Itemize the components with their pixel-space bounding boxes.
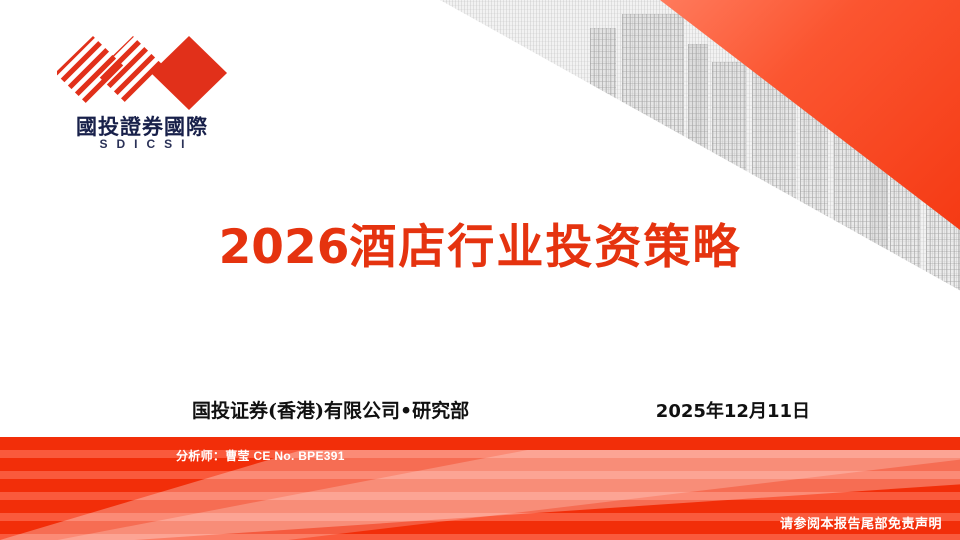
- analyst-credit: 分析师：曹莹 CE No. BPE391: [176, 447, 345, 464]
- company-logo: 國投證券國際 SDICSI: [42, 34, 242, 151]
- logo-subtext: SDICSI: [42, 137, 242, 151]
- building-shape: [590, 28, 616, 328]
- building-shape: [622, 14, 684, 330]
- cityscape-image: [440, 0, 960, 330]
- red-corner-wedge: [660, 0, 960, 230]
- company-name: 国投证券(香港)有限公司•研究部: [192, 396, 469, 423]
- cityscape-background: [440, 0, 960, 330]
- building-shape: [712, 62, 746, 330]
- building-shape: [926, 70, 960, 330]
- title-year: 2026: [219, 220, 350, 275]
- publication-date: 2025年12月11日: [656, 397, 810, 423]
- slide-title: 2026酒店行业投资策略: [0, 208, 960, 277]
- cityscape-texture: [440, 0, 960, 330]
- disclaimer-note: 请参阅本报告尾部免责声明: [780, 513, 942, 532]
- building-shape: [834, 54, 884, 330]
- logo-wordmark: 國投證券國際: [42, 116, 242, 139]
- analyst-ce-number: CE No. BPE391: [253, 449, 344, 463]
- analyst-label: 分析师：: [176, 449, 225, 463]
- byline-row: 国投证券(香港)有限公司•研究部 2025年12月11日: [192, 396, 810, 423]
- building-shape: [752, 40, 796, 330]
- title-subject: 酒店行业投资策略: [349, 220, 741, 275]
- logo-diamond-icon: [57, 34, 227, 112]
- analyst-name: 曹莹: [225, 449, 250, 463]
- header-artwork: [440, 0, 960, 330]
- footer-top-edge: [0, 437, 960, 450]
- building-shape: [800, 78, 828, 330]
- building-shape: [688, 44, 708, 330]
- presentation-slide: 國投證券國際 SDICSI 2026酒店行业投资策略 国投证券(香港)有限公司•…: [0, 0, 960, 540]
